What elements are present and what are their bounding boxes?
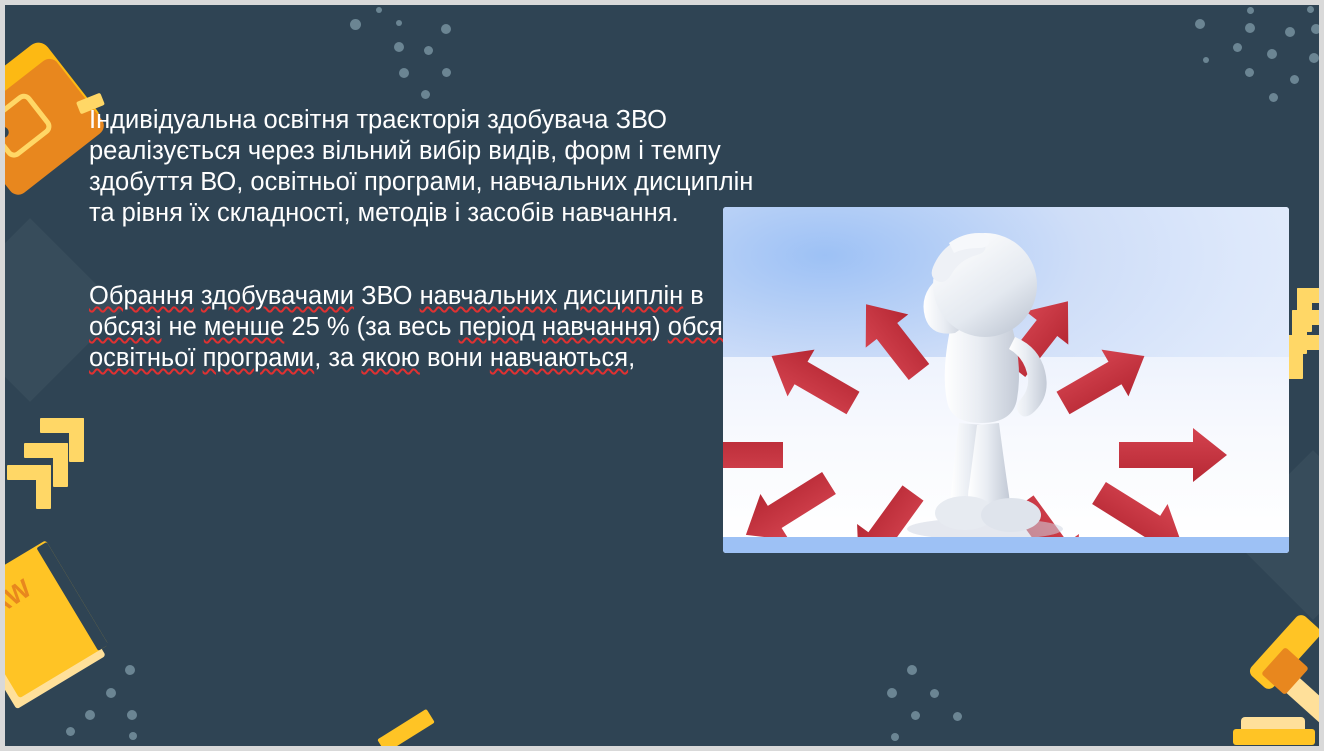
misspelled-word: Обрання — [89, 282, 194, 310]
text-run — [535, 313, 542, 341]
text-run — [194, 282, 201, 310]
text-run — [195, 344, 202, 372]
misspelled-word: навчання — [542, 313, 652, 341]
misspelled-word: здобувачами — [201, 282, 354, 310]
presentation-slide: LAW Індивідуальна освітня траєкторія здо… — [0, 0, 1324, 751]
illustration-confused-figure-with-arrows — [723, 207, 1289, 553]
text-run: в — [683, 282, 711, 310]
corner-bracket-right-3 — [1288, 335, 1322, 379]
text-run — [557, 282, 564, 310]
text-run: , — [628, 344, 635, 372]
misspelled-word: менше — [204, 313, 284, 341]
misspelled-word: дисциплін — [564, 282, 683, 310]
picture-bottom-band — [723, 537, 1289, 553]
gavel-icon — [1227, 633, 1324, 751]
figure-and-arrows-graphic — [723, 207, 1289, 553]
text-run: не — [161, 313, 203, 341]
text-run: вони — [420, 344, 490, 372]
text-run: , за — [314, 344, 361, 372]
text-run: ) — [652, 313, 668, 341]
misspelled-word: програми — [203, 344, 315, 372]
misspelled-word: навчаються — [490, 344, 628, 372]
text-run: 25 % (за весь — [284, 313, 458, 341]
text-run: ЗВО — [354, 282, 420, 310]
paragraph-elective-rule: Обрання здобувачами ЗВО навчальних дисци… — [89, 281, 769, 374]
misspelled-word: період — [459, 313, 535, 341]
misspelled-word: обсязі — [89, 313, 161, 341]
corner-bracket-left-3 — [7, 465, 51, 509]
misspelled-word: навчальних — [420, 282, 557, 310]
paragraph-definition: Індивідуальна освітня траєкторія здобува… — [89, 105, 769, 229]
slide-text-body: Індивідуальна освітня траєкторія здобува… — [89, 105, 769, 229]
misspelled-word: освітньої — [89, 344, 195, 372]
misspelled-word: якою — [361, 344, 420, 372]
